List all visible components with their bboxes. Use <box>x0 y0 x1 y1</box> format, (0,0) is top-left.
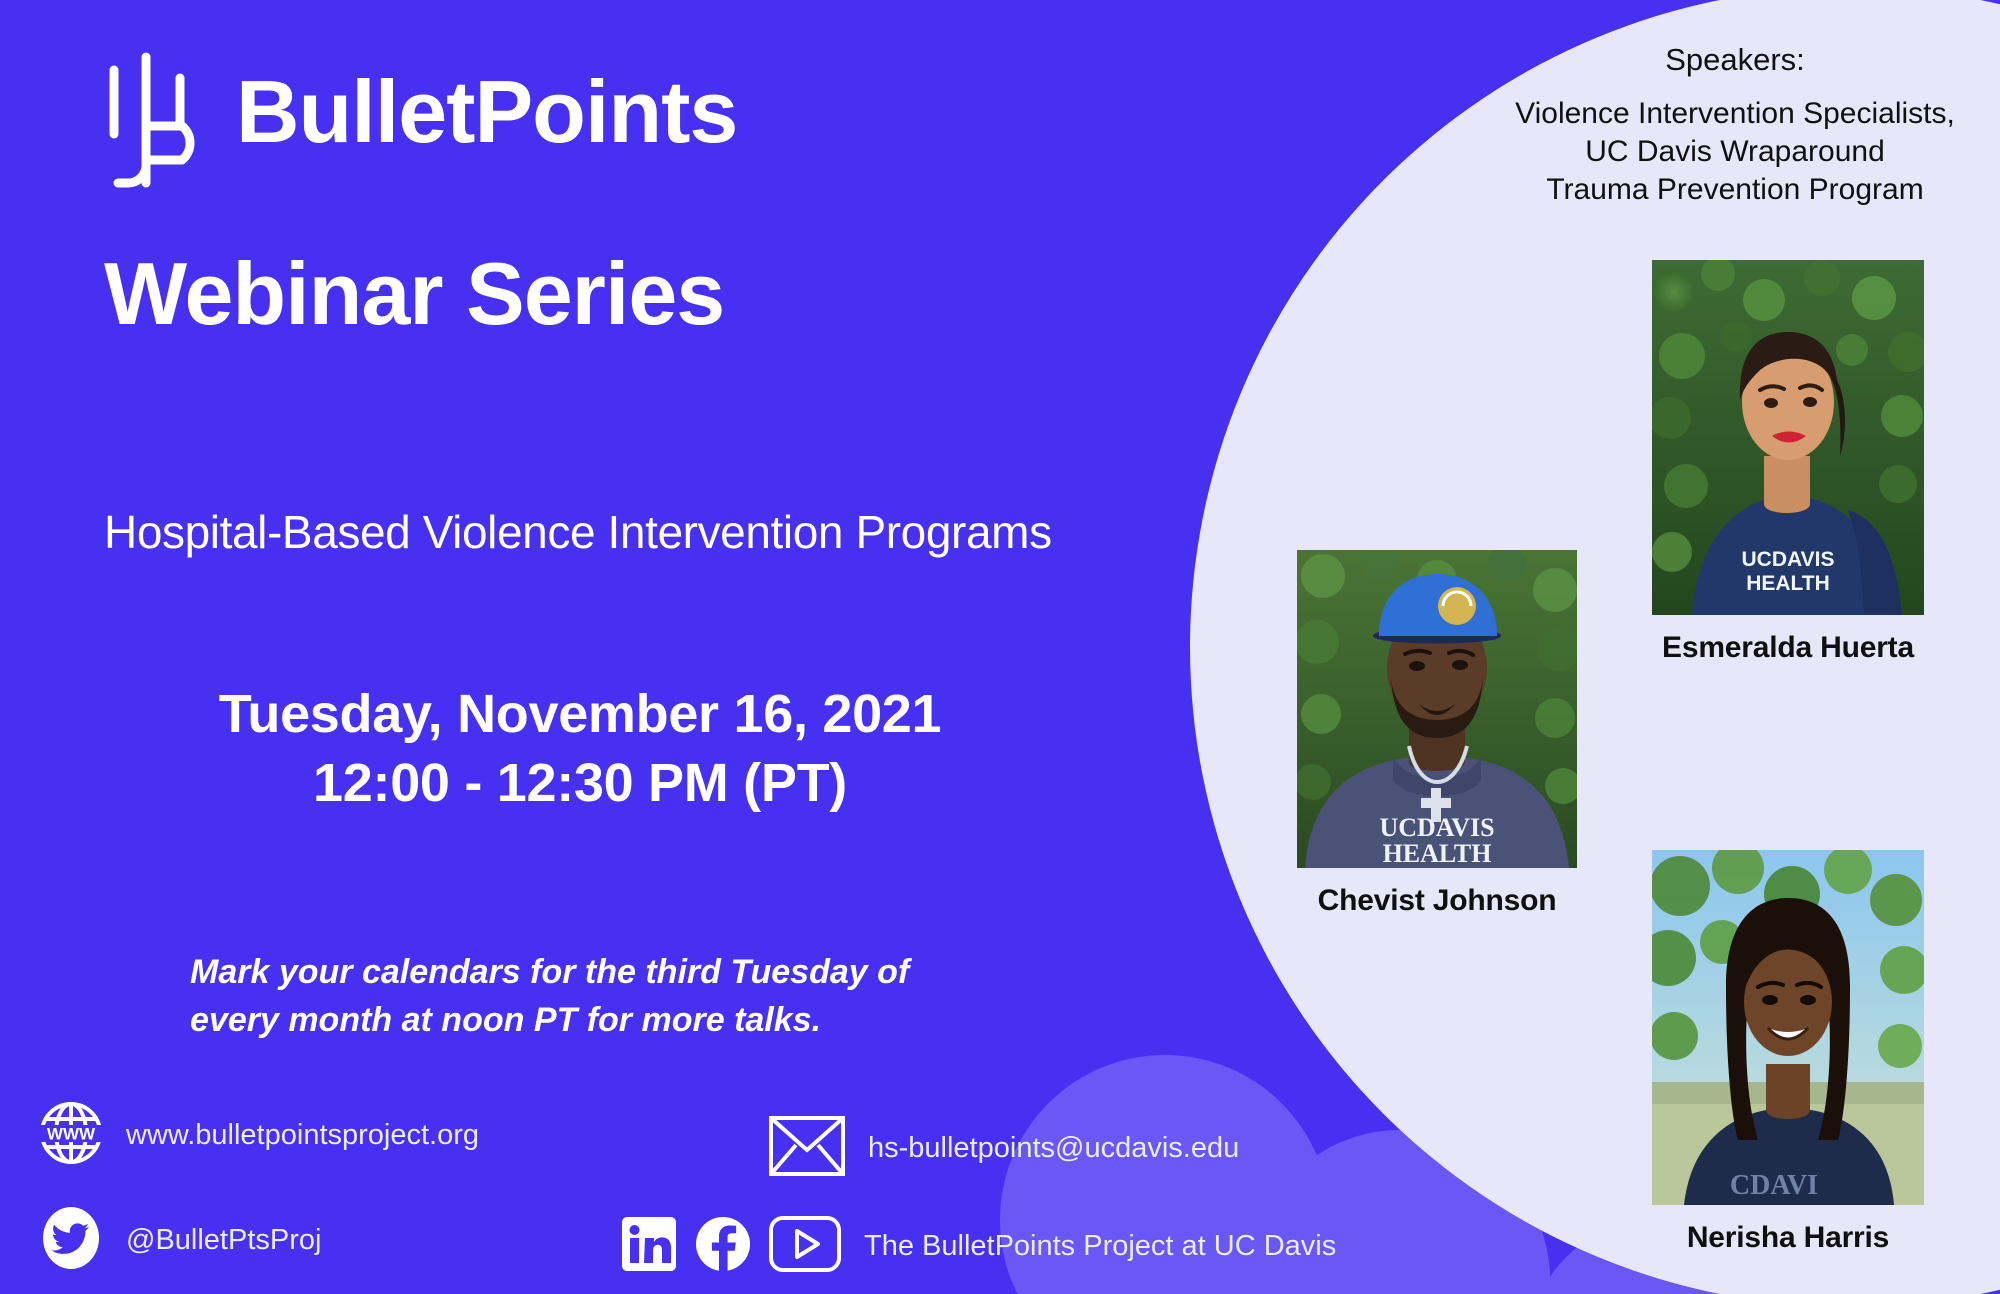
envelope-icon <box>768 1115 846 1182</box>
email-address: hs-bulletpoints@ucdavis.edu <box>868 1132 1239 1165</box>
svg-text:HEALTH: HEALTH <box>1746 572 1830 595</box>
svg-text:CDAVI: CDAVI <box>1730 1170 1818 1201</box>
speaker-card-esmeralda-huerta: UCDAVIS HEALTH Esmeralda Huerta <box>1652 260 1924 665</box>
brand-header: BulletPoints <box>104 48 737 188</box>
globe-www-icon: WWW <box>38 1100 104 1171</box>
svg-text:HEALTH: HEALTH <box>1383 839 1492 868</box>
calendar-note-line1: Mark your calendars for the third Tuesda… <box>190 948 909 996</box>
brand-name: BulletPoints <box>236 68 737 156</box>
speaker-name: Nerisha Harris <box>1652 1221 1924 1255</box>
twitter-handle: @BulletPtsProj <box>126 1224 321 1257</box>
webinar-time: 12:00 - 12:30 PM (PT) <box>0 749 1160 818</box>
speakers-affiliation-line2: UC Davis Wraparound <box>1500 133 1970 171</box>
portrait-chevist-johnson: UCDAVIS HEALTH <box>1297 550 1577 868</box>
speakers-header: Speakers: Violence Intervention Speciali… <box>1500 40 1970 208</box>
speaker-card-nerisha-harris: CDAVI Nerisha Harris <box>1652 850 1924 1255</box>
speakers-affiliation-line1: Violence Intervention Specialists, <box>1500 95 1970 133</box>
calendar-note: Mark your calendars for the third Tuesda… <box>190 948 909 1045</box>
youtube-play-icon[interactable] <box>768 1215 842 1278</box>
facebook-icon[interactable] <box>694 1215 752 1278</box>
webinar-topic: Hospital-Based Violence Intervention Pro… <box>104 505 1052 559</box>
speaker-name: Esmeralda Huerta <box>1652 631 1924 665</box>
speakers-affiliation-line3: Trauma Prevention Program <box>1500 171 1970 209</box>
speaker-card-chevist-johnson: UCDAVIS HEALTH Chevist Johnson <box>1297 550 1577 918</box>
svg-text:UCDAVIS: UCDAVIS <box>1379 813 1494 842</box>
social-links[interactable]: The BulletPoints Project at UC Davis <box>620 1215 1336 1278</box>
twitter-link[interactable]: @BulletPtsProj <box>38 1205 321 1276</box>
email-link[interactable]: hs-bulletpoints@ucdavis.edu <box>768 1115 1239 1182</box>
main-content: BulletPoints Webinar Series Hospital-Bas… <box>0 0 1180 1294</box>
svg-text:WWW: WWW <box>47 1125 96 1144</box>
speaker-name: Chevist Johnson <box>1297 884 1577 918</box>
website-url: www.bulletpointsproject.org <box>126 1119 479 1152</box>
webinar-datetime: Tuesday, November 16, 2021 12:00 - 12:30… <box>0 680 1160 818</box>
linkedin-icon[interactable] <box>620 1215 678 1278</box>
brand-subtitle: Webinar Series <box>104 250 724 338</box>
website-link[interactable]: WWW www.bulletpointsproject.org <box>38 1100 479 1171</box>
webinar-date: Tuesday, November 16, 2021 <box>0 680 1160 749</box>
portrait-nerisha-harris: CDAVI <box>1652 850 1924 1205</box>
twitter-bird-icon <box>38 1205 104 1276</box>
webinar-flyer: BulletPoints Webinar Series Hospital-Bas… <box>0 0 2000 1294</box>
social-icon-cluster[interactable] <box>620 1215 842 1278</box>
svg-text:UCDAVIS: UCDAVIS <box>1742 548 1835 571</box>
calendar-note-line2: every month at noon PT for more talks. <box>190 996 909 1044</box>
bulletpoints-hand-logo-icon <box>104 48 216 188</box>
speakers-heading: Speakers: <box>1500 40 1970 79</box>
portrait-esmeralda-huerta: UCDAVIS HEALTH <box>1652 260 1924 615</box>
organization-name: The BulletPoints Project at UC Davis <box>864 1230 1336 1263</box>
